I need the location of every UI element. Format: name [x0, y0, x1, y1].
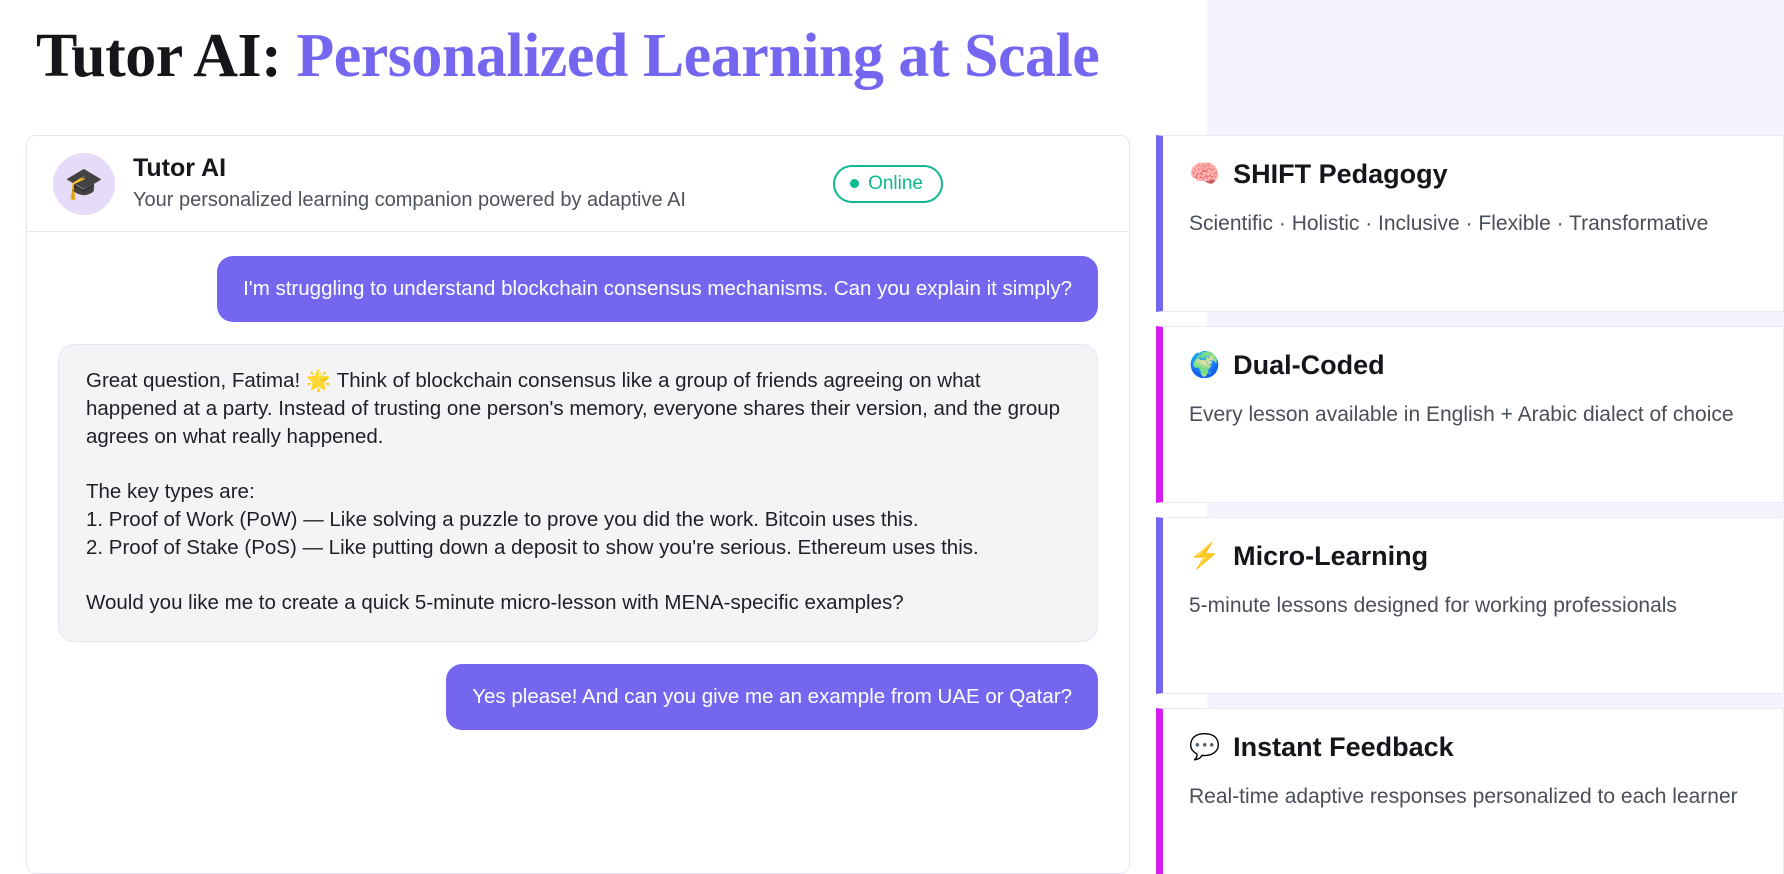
globe-icon: 🌍: [1189, 353, 1220, 378]
assistant-paragraph-3: Would you like me to create a quick 5-mi…: [86, 589, 1070, 617]
bot-tagline: Your personalized learning companion pow…: [133, 185, 686, 215]
message-row-user-2: Yes please! And can you give me an examp…: [58, 664, 1098, 730]
status-dot-icon: [850, 179, 859, 188]
feature-title: Micro-Learning: [1233, 538, 1428, 574]
feature-title: SHIFT Pedagogy: [1233, 156, 1448, 192]
user-message-bubble: Yes please! And can you give me an examp…: [446, 664, 1098, 730]
feature-card-dual-coded[interactable]: 🌍 Dual-Coded Every lesson available in E…: [1156, 326, 1784, 503]
assistant-list-intro: The key types are:: [86, 478, 1070, 506]
feature-description: Every lesson available in English + Arab…: [1189, 400, 1757, 430]
chat-header: 🎓 Tutor AI Your personalized learning co…: [27, 136, 1129, 232]
message-row-user-1: I'm struggling to understand blockchain …: [58, 256, 1098, 322]
speech-balloon-icon: 💬: [1189, 735, 1220, 760]
feature-card-title-row: 💬 Instant Feedback: [1189, 729, 1757, 765]
page-title-accent: Personalized Learning at Scale: [296, 22, 1099, 90]
status-label: Online: [868, 173, 923, 195]
brain-icon: 🧠: [1189, 162, 1220, 187]
feature-description: Scientific · Holistic · Inclusive · Flex…: [1189, 209, 1757, 239]
paragraph-spacer: [86, 562, 1070, 589]
feature-card-title-row: 🌍 Dual-Coded: [1189, 347, 1757, 383]
feature-card-shift-pedagogy[interactable]: 🧠 SHIFT Pedagogy Scientific · Holistic ·…: [1156, 135, 1784, 312]
feature-description: Real-time adaptive responses personalize…: [1189, 782, 1757, 812]
user-message-bubble: I'm struggling to understand blockchain …: [217, 256, 1098, 322]
assistant-list-item-1: 1. Proof of Work (PoW) — Like solving a …: [86, 506, 1070, 534]
feature-card-micro-learning[interactable]: ⚡ Micro-Learning 5-minute lessons design…: [1156, 517, 1784, 694]
message-list: I'm struggling to understand blockchain …: [27, 232, 1129, 730]
feature-card-list: 🧠 SHIFT Pedagogy Scientific · Holistic ·…: [1156, 135, 1784, 874]
paragraph-spacer: [86, 451, 1070, 478]
page-root: Tutor AI: Personalized Learning at Scale…: [0, 0, 1784, 874]
feature-card-title-row: ⚡ Micro-Learning: [1189, 538, 1757, 574]
feature-card-instant-feedback[interactable]: 💬 Instant Feedback Real-time adaptive re…: [1156, 708, 1784, 874]
page-title: Tutor AI: Personalized Learning at Scale: [36, 18, 1099, 94]
lightning-bolt-icon: ⚡: [1189, 544, 1220, 569]
chat-header-text: Tutor AI Your personalized learning comp…: [133, 152, 686, 215]
assistant-list-item-2: 2. Proof of Stake (PoS) — Like putting d…: [86, 534, 1070, 562]
bot-name: Tutor AI: [133, 152, 686, 184]
assistant-paragraph-1: Great question, Fatima! 🌟 Think of block…: [86, 367, 1070, 451]
feature-card-title-row: 🧠 SHIFT Pedagogy: [1189, 156, 1757, 192]
status-badge: Online: [833, 165, 943, 203]
feature-title: Dual-Coded: [1233, 347, 1385, 383]
graduation-cap-icon: 🎓: [53, 153, 115, 215]
assistant-message-bubble: Great question, Fatima! 🌟 Think of block…: [58, 344, 1098, 642]
feature-title: Instant Feedback: [1233, 729, 1454, 765]
chat-card: 🎓 Tutor AI Your personalized learning co…: [26, 135, 1130, 874]
message-row-assistant-1: Great question, Fatima! 🌟 Think of block…: [58, 322, 1098, 642]
page-title-lead: Tutor AI:: [36, 22, 296, 90]
feature-description: 5-minute lessons designed for working pr…: [1189, 591, 1757, 621]
avatar-emoji: 🎓: [65, 168, 104, 199]
